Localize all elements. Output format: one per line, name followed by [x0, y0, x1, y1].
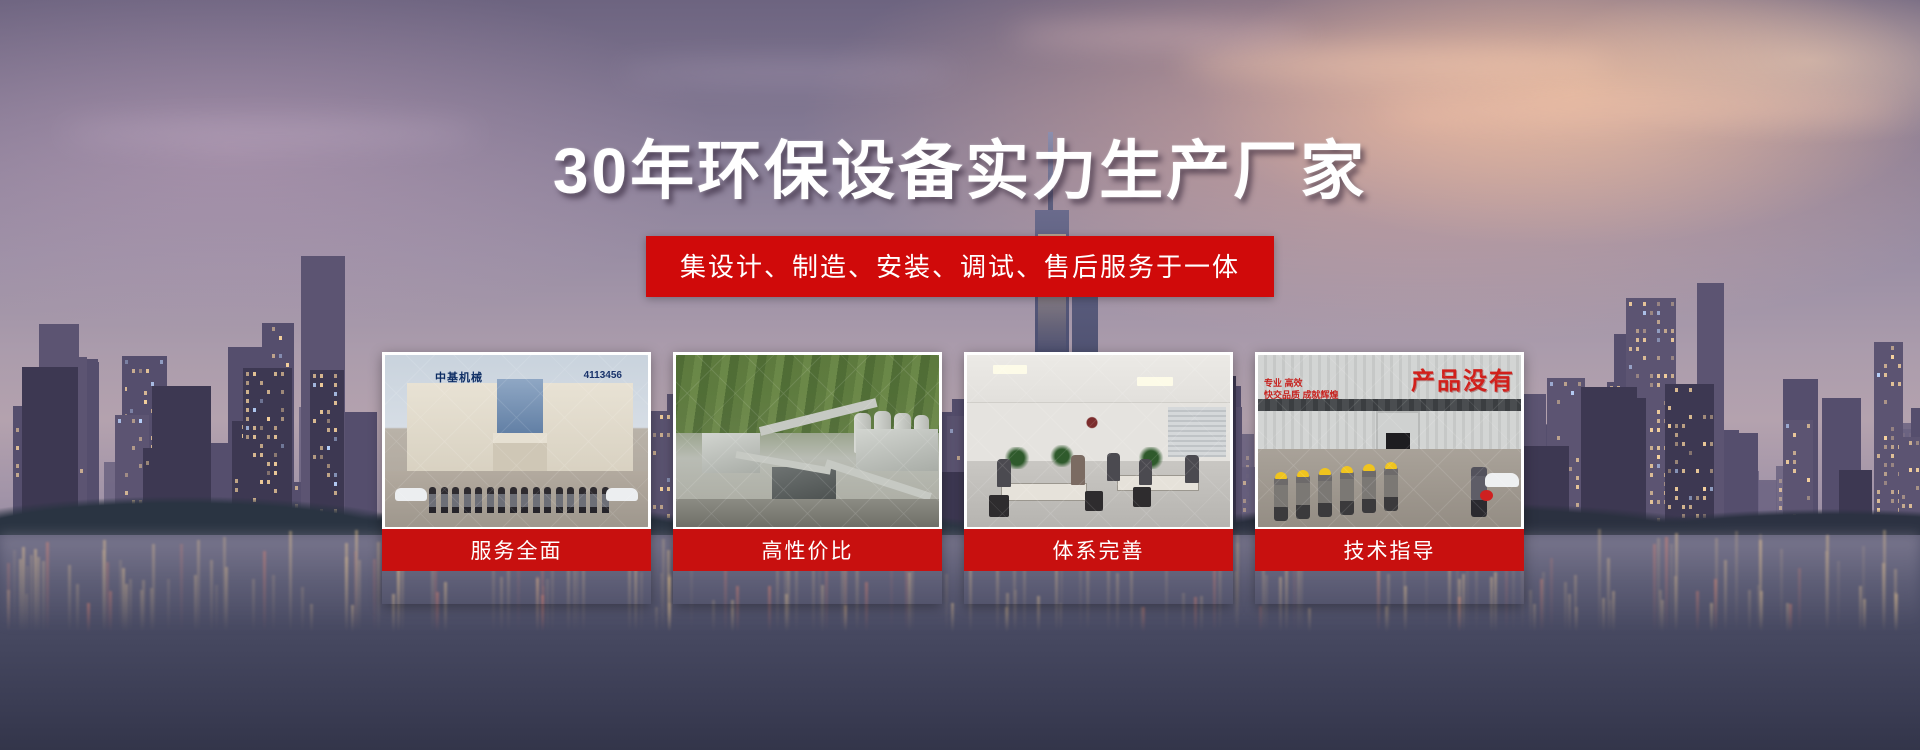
building-window — [1793, 469, 1796, 473]
office-desk — [1001, 483, 1087, 501]
building-window — [246, 399, 249, 403]
building-window — [274, 372, 277, 376]
building-glass-atrium — [497, 379, 543, 437]
building-window — [1675, 460, 1678, 464]
building-window — [16, 464, 19, 468]
building-window — [1671, 302, 1674, 306]
water-reflection — [272, 575, 275, 632]
water-reflection — [25, 594, 28, 632]
water-reflection — [1894, 569, 1897, 632]
building-window — [1671, 374, 1674, 378]
water-reflection — [223, 537, 226, 632]
water-reflection — [1542, 572, 1545, 632]
building-window — [260, 426, 263, 430]
water-reflection — [1602, 598, 1605, 632]
building-window — [313, 455, 316, 459]
water-reflection — [1533, 604, 1536, 632]
water-reflection — [1653, 544, 1656, 632]
factory-window-strip — [1258, 399, 1521, 411]
page-title: 30年环保设备实力生产厂家 — [0, 120, 1920, 212]
card-caption: 体系完善 — [964, 527, 1233, 571]
building-window — [1884, 400, 1887, 404]
building-window — [253, 453, 256, 457]
building-window — [1689, 415, 1692, 419]
building-window — [1569, 467, 1572, 471]
building-window — [1898, 382, 1901, 386]
building-window — [260, 381, 263, 385]
building-window — [1696, 469, 1699, 473]
building-window — [267, 462, 270, 466]
building-window — [246, 390, 249, 394]
building-window — [246, 372, 249, 376]
building-window — [267, 435, 270, 439]
building-window — [313, 374, 316, 378]
water-reflection — [1780, 549, 1783, 632]
building-window — [139, 419, 142, 423]
building-window — [246, 417, 249, 421]
building-window — [1636, 347, 1639, 351]
card-caption: 服务全面 — [382, 527, 651, 571]
parked-car — [395, 488, 427, 501]
building-window — [1657, 410, 1660, 414]
card-caption: 高性价比 — [673, 527, 942, 571]
building-window — [313, 419, 316, 423]
hard-hat-icon — [1297, 470, 1309, 477]
feature-card[interactable]: 高性价比 — [673, 352, 942, 604]
water-reflection — [263, 551, 266, 632]
staff-member — [567, 487, 574, 513]
building-window — [1557, 436, 1560, 440]
card-image-office-interior — [964, 352, 1233, 527]
building-window — [274, 471, 277, 475]
building-window — [327, 428, 330, 432]
building-window — [1657, 329, 1660, 333]
water-reflection — [1665, 537, 1668, 632]
employee — [1071, 455, 1085, 485]
building-window — [139, 369, 142, 373]
building-window — [1671, 338, 1674, 342]
building-window — [80, 469, 83, 473]
water-reflection — [354, 551, 357, 632]
ceiling-light — [993, 365, 1027, 374]
building-window — [1675, 388, 1678, 392]
building-window — [334, 401, 337, 405]
hard-hat-icon — [1319, 468, 1331, 475]
water-reflection — [252, 579, 255, 632]
factory-worker — [1296, 475, 1310, 519]
building-window — [1657, 428, 1660, 432]
water-reflection — [1696, 591, 1699, 632]
building-window — [1703, 415, 1706, 419]
building-window — [279, 354, 282, 358]
building-window — [1636, 329, 1639, 333]
building-window — [1793, 433, 1796, 437]
building-window — [334, 392, 337, 396]
building-window — [1793, 460, 1796, 464]
factory-worker — [1274, 477, 1288, 521]
water-reflection — [1825, 551, 1828, 632]
hard-hat-icon — [1385, 462, 1397, 469]
building-window — [1675, 424, 1678, 428]
building-window — [1664, 329, 1667, 333]
building-window — [1650, 446, 1653, 450]
building-window — [125, 473, 128, 477]
water-reflection — [37, 557, 40, 632]
building-window — [132, 419, 135, 423]
staff-member — [590, 487, 597, 513]
water-reflection — [102, 550, 105, 632]
staff-member — [521, 487, 528, 513]
building-window — [146, 369, 149, 373]
building-window — [1710, 415, 1713, 419]
building-window — [1710, 469, 1713, 473]
water-reflection — [1607, 558, 1610, 632]
water-reflection — [301, 587, 304, 632]
water-reflection — [377, 542, 380, 632]
employee — [1139, 459, 1152, 485]
water-reflection — [197, 540, 200, 632]
building-window — [1891, 463, 1894, 467]
feature-card[interactable]: 体系完善 — [964, 352, 1233, 604]
water-reflection — [1859, 586, 1862, 632]
building-window — [1629, 347, 1632, 351]
water-reflection — [1612, 591, 1615, 632]
building-window — [327, 419, 330, 423]
staff-member — [556, 487, 563, 513]
parked-car — [606, 488, 638, 501]
water-reflection — [358, 560, 361, 632]
water-reflection — [310, 604, 313, 632]
building-window — [1891, 436, 1894, 440]
building-window — [1884, 463, 1887, 467]
building-window — [267, 417, 270, 421]
hard-hat-icon — [1363, 464, 1375, 471]
building-window — [253, 372, 256, 376]
building-window — [1657, 383, 1660, 387]
water-reflection — [7, 563, 10, 632]
building-window — [334, 383, 337, 387]
water-reflection — [76, 584, 79, 632]
water-reflection — [210, 560, 213, 632]
building-window — [1668, 469, 1671, 473]
building-window — [253, 426, 256, 430]
building-window — [267, 471, 270, 475]
water-reflection — [46, 542, 49, 632]
staff-member — [510, 487, 517, 513]
staff-member — [475, 487, 482, 513]
building-window — [281, 390, 284, 394]
water-reflection — [1059, 603, 1062, 632]
building-window — [1675, 469, 1678, 473]
building-window — [1650, 464, 1653, 468]
building-window — [1657, 338, 1660, 342]
building-window — [1877, 373, 1880, 377]
building-window — [1657, 356, 1660, 360]
water-reflection — [731, 600, 734, 632]
water-reflection — [42, 561, 45, 632]
building-window — [1909, 441, 1912, 445]
building-window — [1675, 433, 1678, 437]
building-window — [320, 410, 323, 414]
staff-member — [429, 487, 436, 513]
water-reflection — [1710, 603, 1713, 632]
building-window — [1682, 442, 1685, 446]
building-window — [1877, 454, 1880, 458]
building-window — [327, 410, 330, 414]
building-window — [16, 446, 19, 450]
water-reflection — [1759, 534, 1762, 632]
building-window — [1891, 427, 1894, 431]
water-reflection — [373, 559, 376, 632]
building-window — [1576, 458, 1579, 462]
employee — [997, 459, 1011, 487]
building-window — [320, 455, 323, 459]
building-window — [1786, 460, 1789, 464]
water-reflection — [289, 531, 292, 632]
water-reflection — [180, 544, 183, 632]
building-window — [327, 464, 330, 468]
building-window — [1636, 374, 1639, 378]
water-reflection — [1837, 561, 1840, 632]
building-window — [1884, 373, 1887, 377]
building-window — [1671, 356, 1674, 360]
building-window — [139, 464, 142, 468]
building-window — [1689, 451, 1692, 455]
water-reflection — [152, 544, 155, 632]
building-window — [1909, 468, 1912, 472]
building-window — [1884, 364, 1887, 368]
building-window — [144, 391, 147, 395]
building-window — [334, 437, 337, 441]
window-blinds — [1168, 407, 1226, 457]
water-reflection — [13, 550, 16, 632]
water-reflection — [1735, 531, 1738, 632]
building-window — [1657, 320, 1660, 324]
feature-card[interactable]: 中基机械 4113456 服务全面 — [382, 352, 651, 604]
factory-sign-text: 产品没有 — [1411, 361, 1515, 396]
building-window — [1643, 338, 1646, 342]
wall-logo — [1073, 413, 1111, 437]
building-window — [1891, 454, 1894, 458]
building-window — [125, 360, 128, 364]
building-entrance — [493, 433, 547, 475]
hard-hat-icon — [1275, 472, 1287, 479]
card-image-plant-aerial — [673, 352, 942, 527]
building-window — [313, 383, 316, 387]
building-window — [281, 372, 284, 376]
building-window — [1650, 473, 1653, 477]
building-phone-text: 4113456 — [584, 370, 622, 381]
building-window — [1664, 374, 1667, 378]
building-window — [1807, 424, 1810, 428]
water-reflection — [655, 607, 658, 632]
water-reflection — [345, 543, 348, 632]
building-window — [274, 426, 277, 430]
building-window — [132, 446, 135, 450]
building-window — [246, 408, 249, 412]
building-window — [260, 453, 263, 457]
building-sign-text: 中基机械 — [435, 369, 483, 385]
building-window — [281, 417, 284, 421]
card-image-factory-yard: 产品没有 专业 高效快交品质 成就辉煌 — [1255, 352, 1524, 527]
building-window — [274, 435, 277, 439]
building-window — [1668, 424, 1671, 428]
water-reflection — [129, 579, 132, 632]
water-reflection — [1714, 579, 1717, 632]
building-window — [1916, 468, 1919, 472]
water-reflection — [87, 603, 90, 632]
building-window — [160, 360, 163, 364]
building-window — [281, 444, 284, 448]
building-window — [1793, 451, 1796, 455]
water-reflection — [1789, 604, 1792, 632]
building-window — [1657, 455, 1660, 459]
building-window — [1675, 442, 1678, 446]
staff-member — [464, 487, 471, 513]
building-window — [1671, 329, 1674, 333]
staff-member — [579, 487, 586, 513]
water-reflection — [34, 549, 37, 632]
subtitle-text: 集设计、制造、安装、调试、售后服务于一体 — [680, 252, 1240, 282]
water-reflection — [1674, 576, 1677, 632]
staff-member — [498, 487, 505, 513]
building-window — [1891, 346, 1894, 350]
office-chair — [1085, 491, 1103, 511]
water-reflection — [1574, 575, 1577, 632]
water-reflection — [1798, 568, 1801, 632]
building-window — [327, 446, 330, 450]
building-window — [1891, 382, 1894, 386]
building-window — [1786, 424, 1789, 428]
building-window — [334, 374, 337, 378]
card-image-office-building: 中基机械 4113456 — [382, 352, 651, 527]
staff-member — [452, 487, 459, 513]
water-reflection — [1259, 606, 1262, 632]
factory-slogan-text: 专业 高效快交品质 成就辉煌 — [1264, 377, 1339, 401]
office-chair — [1133, 487, 1151, 507]
water-reflection — [215, 585, 218, 632]
water-reflection — [1005, 607, 1008, 632]
building-window — [1636, 338, 1639, 342]
water-reflection — [712, 600, 715, 632]
water-reflection — [125, 584, 128, 632]
building-window — [1643, 302, 1646, 306]
red-helmet-icon — [1480, 490, 1493, 501]
water-reflection — [167, 579, 170, 632]
building-window — [1689, 388, 1692, 392]
factory-worker — [1318, 473, 1332, 517]
building-window — [1564, 382, 1567, 386]
building-window — [1916, 441, 1919, 445]
building-window — [272, 327, 275, 331]
building-window — [1884, 436, 1887, 440]
building-window — [1884, 472, 1887, 476]
building-window — [1682, 469, 1685, 473]
building-window — [1650, 374, 1653, 378]
water-reflection — [1659, 590, 1662, 632]
building-window — [274, 453, 277, 457]
building-window — [320, 383, 323, 387]
building-window — [253, 408, 256, 412]
building-window — [1898, 364, 1901, 368]
building-window — [130, 409, 133, 413]
staff-member — [533, 487, 540, 513]
water-reflection — [106, 562, 109, 632]
plant-road — [676, 499, 939, 527]
subtitle-banner: 集设计、制造、安装、调试、售后服务于一体 — [646, 236, 1274, 297]
building-window — [1668, 406, 1671, 410]
building-window — [1657, 311, 1660, 315]
building-window — [260, 399, 263, 403]
cloud — [1180, 46, 1610, 80]
water-reflection — [1598, 529, 1601, 632]
factory-worker — [1384, 467, 1398, 511]
building-window — [146, 461, 149, 465]
factory-worker — [1340, 471, 1354, 515]
building-window — [1703, 442, 1706, 446]
building-window — [260, 444, 263, 448]
building-window — [1650, 428, 1653, 432]
building-window — [327, 473, 330, 477]
building-window — [1643, 356, 1646, 360]
water-reflection — [1568, 594, 1571, 632]
cloud — [620, 62, 960, 82]
factory-worker — [1362, 469, 1376, 513]
building-window — [267, 390, 270, 394]
parked-car — [1485, 473, 1519, 487]
building-window — [274, 462, 277, 466]
staff-member — [544, 487, 551, 513]
building-window — [1891, 355, 1894, 359]
feature-card[interactable]: 产品没有 专业 高效快交品质 成就辉煌 技术指导 — [1255, 352, 1524, 604]
hard-hat-icon — [1341, 466, 1353, 473]
building-window — [1643, 329, 1646, 333]
building-window — [1629, 365, 1632, 369]
hero-banner: 30年环保设备实力生产厂家 集设计、制造、安装、调试、售后服务于一体 中基机械 … — [0, 0, 1920, 750]
feature-card-list: 中基机械 4113456 服务全面 — [382, 352, 1538, 604]
building-window — [279, 336, 282, 340]
card-caption: 技术指导 — [1255, 527, 1524, 571]
building-window — [1643, 311, 1646, 315]
building-window — [334, 428, 337, 432]
building-window — [246, 426, 249, 430]
water-reflection — [951, 603, 954, 632]
building-window — [281, 408, 284, 412]
building-window — [1578, 382, 1581, 386]
building-window — [1629, 302, 1632, 306]
building-window — [246, 381, 249, 385]
building-window — [1657, 302, 1660, 306]
employee — [1107, 453, 1120, 481]
cloud — [1010, 24, 1310, 46]
building-window — [1557, 400, 1560, 404]
plant-hall — [856, 429, 938, 471]
water-reflection — [1786, 603, 1789, 633]
building-window — [1657, 374, 1660, 378]
building-window — [118, 419, 121, 423]
water-reflection — [1564, 582, 1567, 632]
water-reflection — [1142, 607, 1145, 632]
building-window — [1657, 464, 1660, 468]
water-reflection — [68, 565, 71, 632]
building-window — [1891, 445, 1894, 449]
building-window — [132, 369, 135, 373]
building-window — [334, 473, 337, 477]
water-reflection — [122, 568, 125, 632]
building-window — [1884, 445, 1887, 449]
employee — [1185, 455, 1199, 483]
building-window — [1650, 383, 1653, 387]
